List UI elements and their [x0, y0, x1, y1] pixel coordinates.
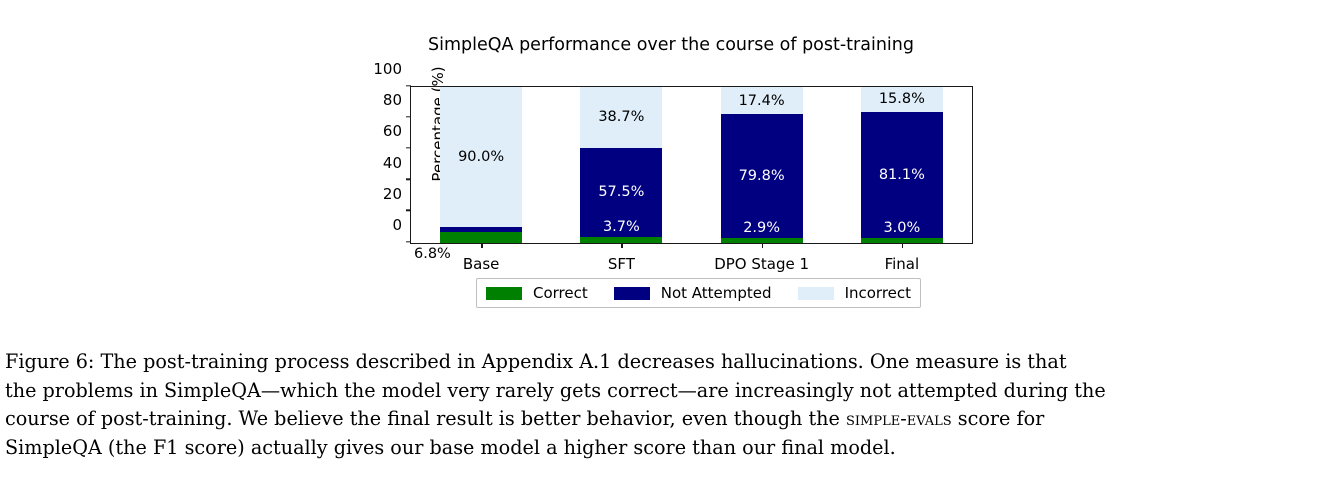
bar-dpo-stage-1-segment-not-attempted: 2.9% 79.8% — [721, 114, 803, 238]
bar-dpo-stage-1[interactable]: 2.9% 79.8% 17.4% — [721, 87, 803, 243]
bar-sft-segment-not-attempted: 3.7% 57.5% — [580, 148, 662, 238]
legend-label-correct: Correct — [533, 284, 588, 302]
bar-final-segment-not-attempted: 3.0% 81.1% — [861, 112, 943, 239]
caption-line-3: course of post-training. We believe the … — [5, 405, 1337, 434]
x-tickmark-final — [902, 243, 903, 248]
bar-sft-segment-incorrect: 38.7% — [580, 87, 662, 147]
y-tick-label-100: 100 — [342, 60, 411, 78]
bar-sft[interactable]: 3.7% 57.5% 38.7% — [580, 87, 662, 243]
bar-sft-segment-correct — [580, 237, 662, 243]
bar-final-label-not-attempted: 81.1% — [861, 167, 943, 183]
bar-base[interactable]: 3.2% 90.0% — [440, 87, 522, 243]
x-tickmark-sft — [621, 243, 622, 248]
bar-dpo-stage-1-label-correct: 2.9% — [721, 220, 803, 236]
y-tick-label-40: 40 — [342, 154, 411, 172]
figure-caption: Figure 6: The post-training process desc… — [5, 348, 1337, 462]
y-tickmark-60 — [406, 147, 411, 148]
bar-final-label-incorrect: 15.8% — [861, 91, 943, 107]
x-tick-label-final: Final — [885, 255, 920, 273]
bar-dpo-stage-1-segment-incorrect: 17.4% — [721, 87, 803, 114]
x-tick-label-base: Base — [463, 255, 500, 273]
y-tickmark-80 — [406, 116, 411, 117]
bar-final-segment-correct — [861, 238, 943, 243]
legend-label-not-attempted: Not Attempted — [661, 284, 772, 302]
y-tickmark-40 — [406, 179, 411, 180]
figure-6: SimpleQA performance over the course of … — [0, 0, 1342, 330]
caption-line-3-head: course of post-training. We believe the … — [5, 407, 846, 430]
caption-line-1: Figure 6: The post-training process desc… — [5, 348, 1337, 377]
bar-base-label-incorrect: 90.0% — [440, 149, 522, 165]
bar-sft-label-incorrect: 38.7% — [580, 109, 662, 125]
bar-dpo-stage-1-label-incorrect: 17.4% — [721, 93, 803, 109]
y-tick-label-80: 80 — [342, 91, 411, 109]
bar-dpo-stage-1-label-not-attempted: 79.8% — [721, 168, 803, 184]
bar-sft-label-correct: 3.7% — [580, 219, 662, 235]
x-tickmark-base — [481, 243, 482, 248]
legend-swatch-incorrect-icon — [798, 287, 834, 300]
legend-swatch-correct-icon — [486, 287, 522, 300]
bar-final-label-correct: 3.0% — [861, 220, 943, 236]
x-tick-label-sft: SFT — [608, 255, 635, 273]
caption-line-3-tail: score for — [952, 407, 1045, 430]
bar-final-segment-incorrect: 15.8% — [861, 87, 943, 112]
y-tickmark-100 — [406, 85, 411, 86]
bar-base-label-correct: 6.8% — [414, 246, 451, 262]
bar-base-segment-incorrect: 90.0% — [440, 87, 522, 227]
x-tick-label-dpo-stage-1: DPO Stage 1 — [714, 255, 809, 273]
bar-dpo-stage-1-segment-correct — [721, 238, 803, 243]
legend-entry-not-attempted[interactable]: Not Attempted — [614, 284, 772, 302]
chart-plot-area: Percentage (%) 0 20 40 60 80 100 Base SF… — [410, 86, 973, 244]
caption-line-2: the problems in SimpleQA—which the model… — [5, 377, 1337, 406]
legend-entry-correct[interactable]: Correct — [486, 284, 588, 302]
bar-base-segment-not-attempted: 3.2% — [440, 227, 522, 232]
y-tickmark-20 — [406, 210, 411, 211]
legend-label-incorrect: Incorrect — [845, 284, 911, 302]
legend-swatch-not-attempted-icon — [614, 287, 650, 300]
y-tickmark-0 — [406, 241, 411, 242]
bar-sft-label-not-attempted: 57.5% — [580, 184, 662, 200]
y-tick-label-0: 0 — [342, 216, 411, 234]
bar-final[interactable]: 3.0% 81.1% 15.8% — [861, 87, 943, 243]
legend-entry-incorrect[interactable]: Incorrect — [798, 284, 911, 302]
y-tick-label-60: 60 — [342, 122, 411, 140]
caption-line-4: SimpleQA (the F1 score) actually gives o… — [5, 434, 1337, 463]
x-tickmark-dpo-stage-1 — [762, 243, 763, 248]
bar-base-segment-correct — [440, 232, 522, 243]
y-tick-label-20: 20 — [342, 185, 411, 203]
caption-smallcaps-term: simple-evals — [846, 407, 952, 430]
chart-title: SimpleQA performance over the course of … — [0, 35, 1342, 55]
chart-legend: Correct Not Attempted Incorrect — [476, 278, 921, 308]
